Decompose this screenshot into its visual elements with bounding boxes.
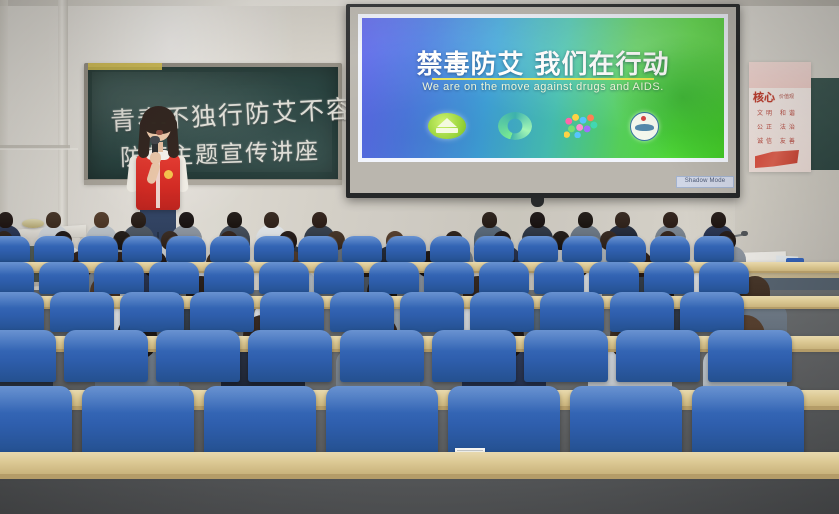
seat-back [314, 262, 364, 294]
seat-back [518, 236, 558, 262]
seat-back [204, 262, 254, 294]
seat-back [570, 386, 682, 454]
seat-back [340, 330, 424, 382]
seat-back [34, 236, 74, 262]
blackboard-top-strip [88, 63, 162, 70]
poster-flag-graphic [755, 150, 799, 168]
desk-edge [0, 474, 839, 479]
audience-person-head [482, 212, 497, 228]
seat-back [448, 386, 560, 454]
seat-back [342, 236, 382, 262]
seat-back [0, 330, 56, 382]
seat-back [479, 262, 529, 294]
seat-back [692, 386, 804, 454]
seat-back [694, 236, 734, 262]
seat-back [610, 292, 674, 332]
seat-back [149, 262, 199, 294]
slide-divider-rule [432, 78, 654, 80]
lecture-hall-photo: 青春不独行防艾不容缓 防艾主题宣传讲座 禁毒防艾 我们在行动 We are on… [0, 0, 839, 514]
wall-rail-highlight [0, 148, 78, 150]
seat-back [650, 236, 690, 262]
seat-back [0, 386, 72, 454]
seat-back [0, 262, 34, 294]
university-seal-logo [630, 112, 659, 141]
speaker-hand [150, 152, 161, 164]
anti-drug-shield-logo [428, 113, 466, 139]
seat-back [699, 262, 749, 294]
poster-row-1: 文明 和谐 [757, 108, 798, 117]
poster-subtitle: 价值观 [779, 93, 794, 100]
seat-back [210, 236, 250, 262]
seat-back [330, 292, 394, 332]
slide-logo-row [362, 106, 724, 146]
poster-title: 核心 [753, 89, 775, 105]
seat-back [708, 330, 792, 382]
seat-back [606, 236, 646, 262]
audience-person-head [530, 212, 545, 228]
seat-back [260, 292, 324, 332]
seat-back [540, 292, 604, 332]
seat-back [259, 262, 309, 294]
audience-person-head [0, 212, 13, 228]
core-values-poster: 核心 价值观 文明 和谐 公正 法治 诚信 友善 [749, 62, 811, 172]
speaker-eye-right [161, 122, 166, 124]
seat-back [248, 330, 332, 382]
podium-dish [22, 219, 44, 228]
seat-back [122, 236, 162, 262]
audience-person-head [179, 212, 194, 228]
colorful-dots-logo [564, 114, 598, 138]
seat-back [534, 262, 584, 294]
projected-slide: 禁毒防艾 我们在行动 We are on the move against dr… [362, 18, 724, 158]
desk-surface [0, 452, 839, 474]
seat-back [470, 292, 534, 332]
seat-back [616, 330, 700, 382]
audience-person-head [264, 212, 279, 228]
seat-back [120, 292, 184, 332]
slide-title-cn: 禁毒防艾 我们在行动 [362, 44, 724, 81]
microphone-head [741, 231, 748, 236]
audience-person-head [46, 212, 61, 228]
seat-back [50, 292, 114, 332]
seat-back [64, 330, 148, 382]
seat-back [254, 236, 294, 262]
seat-back [204, 386, 316, 454]
audience-person-head [615, 212, 630, 228]
seat-back [524, 330, 608, 382]
audience-person-head [227, 212, 242, 228]
seat-back [369, 262, 419, 294]
seat-back [82, 386, 194, 454]
seat-back [78, 236, 118, 262]
seat-back [326, 386, 438, 454]
seat-back [298, 236, 338, 262]
seat-back [474, 236, 514, 262]
poster-header-band [749, 62, 811, 88]
audience-person-head [578, 212, 593, 228]
seat-back [424, 262, 474, 294]
seat-back [400, 292, 464, 332]
seat-back [156, 330, 240, 382]
seat-back [190, 292, 254, 332]
audience-person-head [663, 212, 678, 228]
seat-back [562, 236, 602, 262]
wall-pillar [58, 0, 68, 248]
audience-person-head [711, 212, 726, 228]
seat-back [430, 236, 470, 262]
seat-back [166, 236, 206, 262]
blackboard-chalk-tray [84, 180, 342, 185]
audience-person-head [131, 212, 146, 228]
seat-back [589, 262, 639, 294]
red-ribbon-swoosh-logo [498, 112, 532, 140]
poster-row-3: 诚信 友善 [757, 136, 798, 145]
slide-subtitle-en: We are on the move against drugs and AID… [362, 81, 724, 93]
audience-person-head [312, 212, 327, 228]
seat-back [0, 292, 44, 332]
slide-watermark: Shadow Mode [676, 176, 734, 188]
seat-back [39, 262, 89, 294]
seat-back [644, 262, 694, 294]
seat-back [432, 330, 516, 382]
poster-row-2: 公正 法治 [757, 122, 798, 131]
seat-back [94, 262, 144, 294]
seat-back [0, 236, 30, 262]
audience-person-head [94, 212, 109, 228]
seat-back [386, 236, 426, 262]
seat-back [680, 292, 744, 332]
speaker-eye-left [151, 122, 156, 124]
speaker-vest-badge [164, 170, 173, 179]
speaker-mouth [156, 130, 163, 135]
speaker-microphone-head [150, 136, 160, 144]
